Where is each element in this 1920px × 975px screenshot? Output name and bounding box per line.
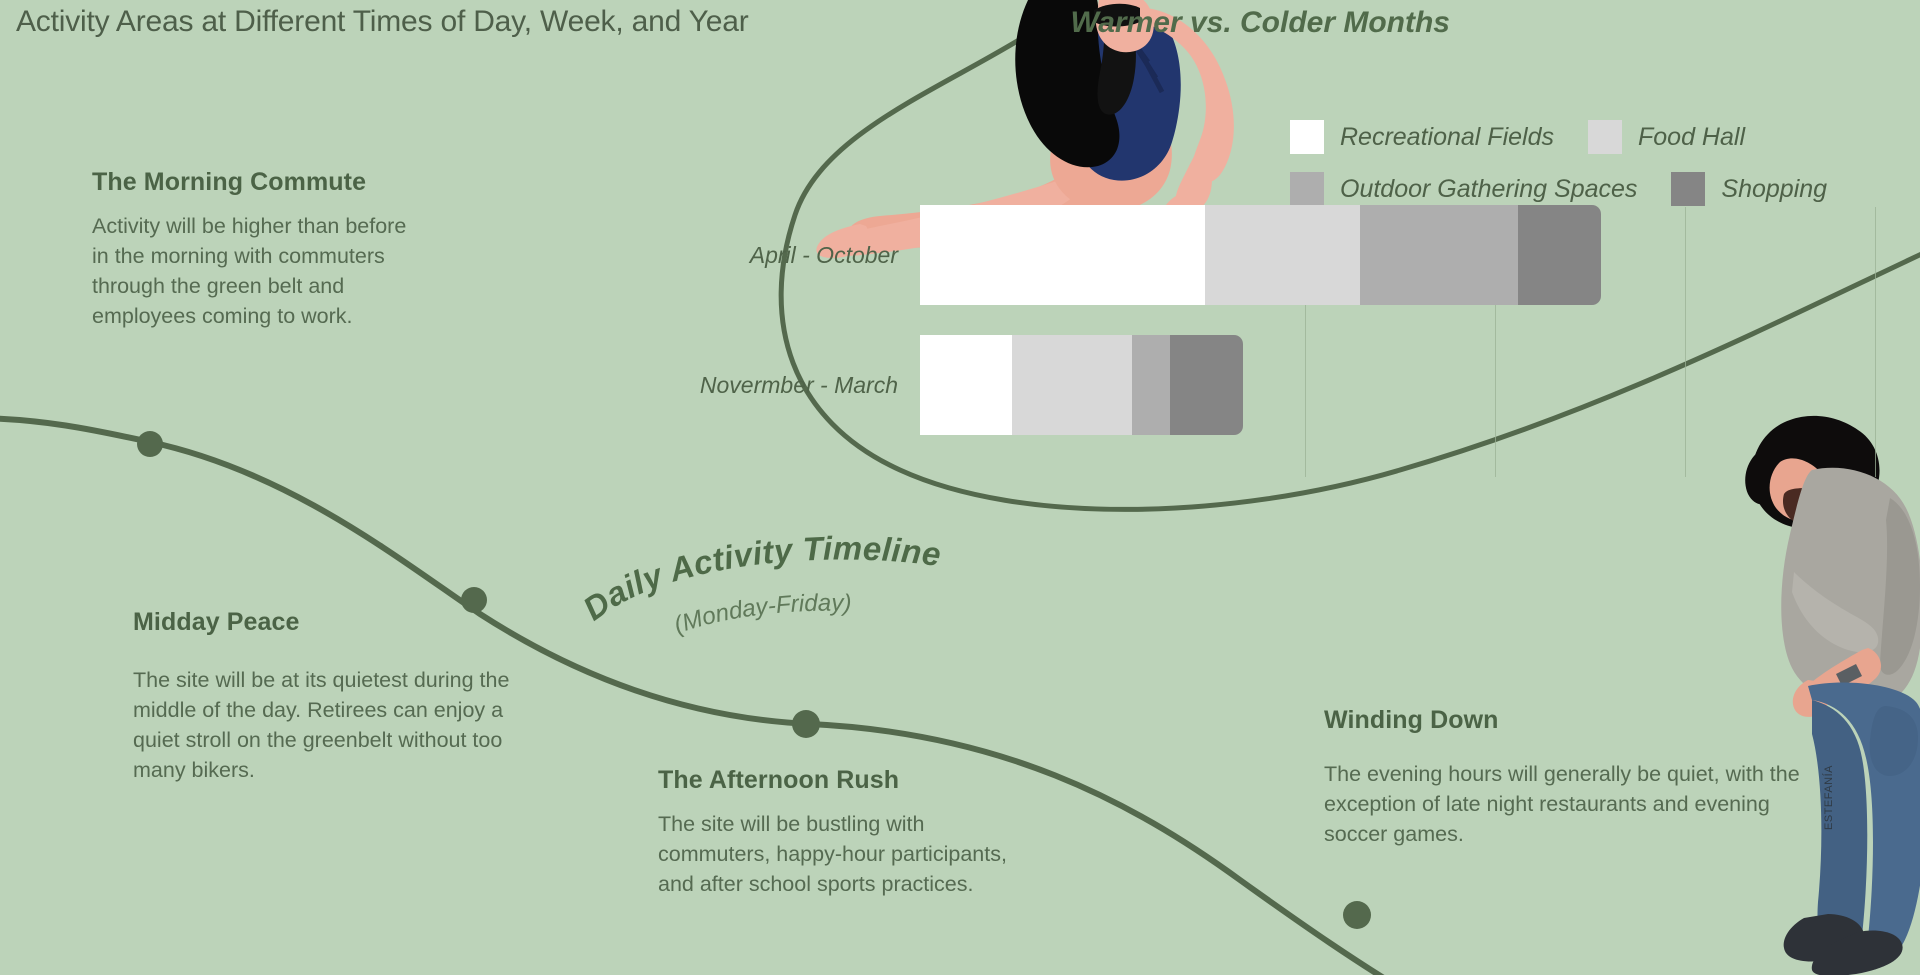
timeline-subtitle: (Monday-Friday) <box>670 590 852 640</box>
story-block-winding-down: Winding Down The evening hours will gene… <box>1324 706 1814 849</box>
stacked-bar-april-october[interactable] <box>920 205 1601 305</box>
stacked-bar-november-march[interactable] <box>920 335 1243 435</box>
story-heading-midday: Midday Peace <box>133 608 533 637</box>
timeline-title-group: Daily Activity Timeline (Monday-Friday) <box>590 540 1050 650</box>
bar-segment-recreational-fields <box>920 205 1205 305</box>
bar-label-april-october: April - October <box>750 242 898 269</box>
legend-row-2: Outdoor Gathering Spaces Shopping <box>1290 172 1920 206</box>
legend-label-food-hall: Food Hall <box>1638 123 1745 152</box>
legend-swatch-food-hall <box>1588 120 1622 154</box>
infographic-canvas: ESTEFANÍA Activity Areas at Different Ti… <box>0 0 1920 975</box>
legend-item-shopping[interactable]: Shopping <box>1671 172 1827 206</box>
story-heading-winding: Winding Down <box>1324 706 1814 735</box>
bar-segment-outdoor-gathering-spaces <box>1360 205 1518 305</box>
bar-segment-outdoor-gathering-spaces <box>1132 335 1170 435</box>
story-block-midday-peace: Midday Peace The site will be at its qui… <box>133 608 533 785</box>
bar-segment-shopping <box>1170 335 1243 435</box>
legend-row-1: Recreational Fields Food Hall <box>1290 120 1920 154</box>
story-body-morning: Activity will be higher than before in t… <box>92 211 422 331</box>
legend-swatch-recreational-fields <box>1290 120 1324 154</box>
legend-item-outdoor-gathering-spaces[interactable]: Outdoor Gathering Spaces <box>1290 172 1637 206</box>
chart-plot-area: April - October Novermber - March <box>920 205 1920 495</box>
legend-item-recreational-fields[interactable]: Recreational Fields <box>1290 120 1554 154</box>
legend-item-food-hall[interactable]: Food Hall <box>1588 120 1745 154</box>
legend-swatch-outdoor-gathering-spaces <box>1290 172 1324 206</box>
season-section-title: Warmer vs. Colder Months <box>1070 6 1450 40</box>
page-title: Activity Areas at Different Times of Day… <box>16 5 749 39</box>
legend-swatch-shopping <box>1671 172 1705 206</box>
legend-label-outdoor-gathering-spaces: Outdoor Gathering Spaces <box>1340 175 1637 204</box>
seasonal-stacked-bar-chart: Recreational Fields Food Hall Outdoor Ga… <box>920 120 1920 500</box>
timeline-node-afternoon <box>792 710 820 738</box>
story-block-morning-commute: The Morning Commute Activity will be hig… <box>92 168 422 331</box>
timeline-title: Daily Activity Timeline <box>576 529 943 627</box>
artist-watermark: ESTEFANÍA <box>1823 765 1835 830</box>
story-body-afternoon: The site will be bustling with commuters… <box>658 809 1018 899</box>
gridline-2 <box>1685 207 1686 477</box>
gridline-3 <box>1875 207 1876 477</box>
bar-segment-recreational-fields <box>920 335 1012 435</box>
timeline-node-morning <box>137 431 163 457</box>
bar-segment-food-hall <box>1205 205 1360 305</box>
legend-label-recreational-fields: Recreational Fields <box>1340 123 1554 152</box>
story-body-midday: The site will be at its quietest during … <box>133 665 533 785</box>
bar-segment-shopping <box>1518 205 1601 305</box>
story-block-afternoon-rush: The Afternoon Rush The site will be bust… <box>658 766 1018 899</box>
story-heading-morning: The Morning Commute <box>92 168 422 197</box>
bar-label-november-march: Novermber - March <box>700 372 898 399</box>
bar-segment-food-hall <box>1012 335 1132 435</box>
timeline-node-winding <box>1343 901 1371 929</box>
story-body-winding: The evening hours will generally be quie… <box>1324 759 1814 849</box>
legend-label-shopping: Shopping <box>1721 175 1827 204</box>
story-heading-afternoon: The Afternoon Rush <box>658 766 1018 795</box>
